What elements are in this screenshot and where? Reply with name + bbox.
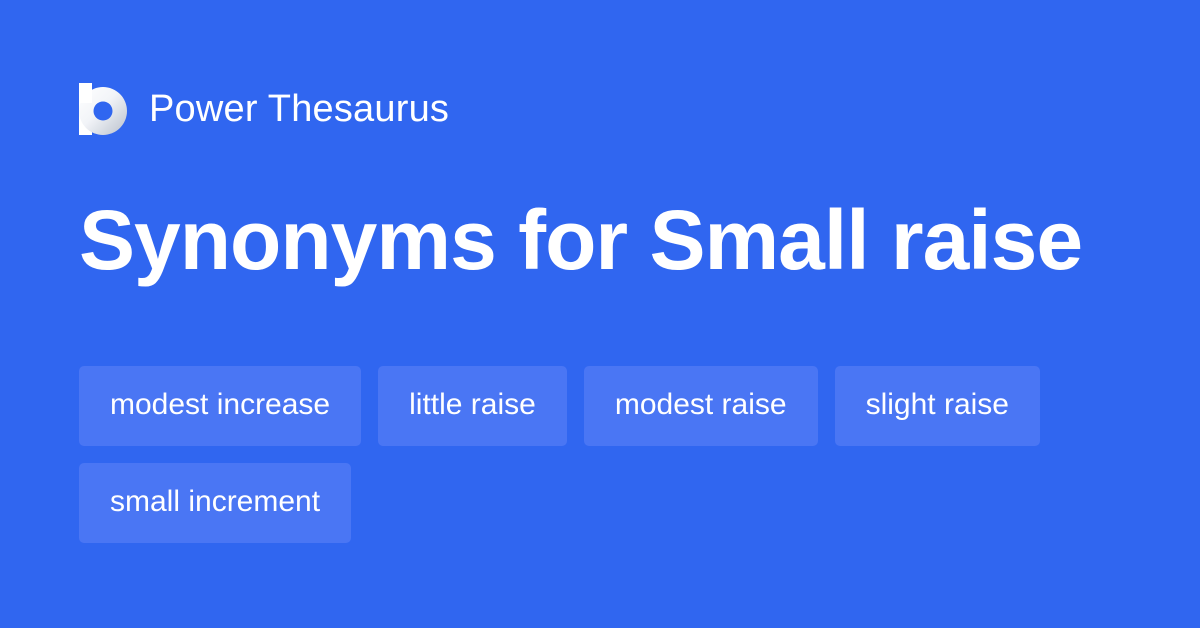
power-thesaurus-b-logo-icon	[79, 83, 127, 135]
synonym-chip-list: modest increase little raise modest rais…	[79, 366, 1139, 543]
page-title: Synonyms for Small raise	[79, 196, 1082, 284]
brand-logo[interactable]: Power Thesaurus	[79, 83, 449, 135]
synonym-chip[interactable]: modest increase	[79, 366, 361, 446]
synonym-chip[interactable]: little raise	[378, 366, 567, 446]
synonym-chip[interactable]: small increment	[79, 463, 351, 543]
synonym-chip[interactable]: slight raise	[835, 366, 1040, 446]
synonyms-card: Power Thesaurus Synonyms for Small raise…	[0, 0, 1200, 628]
synonym-chip[interactable]: modest raise	[584, 366, 818, 446]
brand-name: Power Thesaurus	[149, 90, 449, 128]
